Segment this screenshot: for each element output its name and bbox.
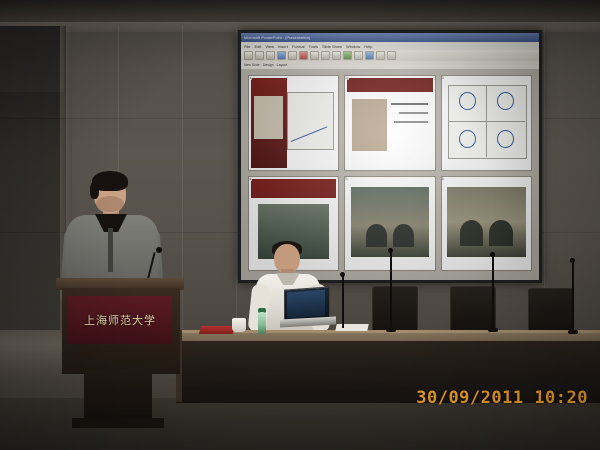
design-button[interactable]: Design <box>263 63 274 67</box>
menu-item-format[interactable]: Format <box>292 44 305 49</box>
camera-timestamp: 30/09/2011 10:20 <box>416 388 588 408</box>
slide-number: 3 <box>441 75 445 80</box>
slide-text-line <box>391 103 429 105</box>
print-icon[interactable] <box>277 51 286 60</box>
menu-item-edit[interactable]: Edit <box>254 44 261 49</box>
slide-photo-arch <box>460 220 484 247</box>
microphone-base <box>386 328 396 332</box>
podium-banner: 上海师范大学 <box>68 296 172 344</box>
laptop-screen-glow <box>287 290 325 319</box>
undo-icon[interactable] <box>343 51 352 60</box>
slide-thumbnail[interactable]: 6 <box>441 176 532 272</box>
microphone-head <box>570 258 575 263</box>
zoom-icon[interactable] <box>387 51 396 60</box>
preview-icon[interactable] <box>288 51 297 60</box>
app-menu-bar: File Edit View Insert Format Tools Slide… <box>241 42 539 50</box>
water-bottle <box>258 312 266 334</box>
app-title-bar: Microsoft PowerPoint - [Presentation] <box>241 33 539 42</box>
presenter-face-shadow <box>96 196 124 212</box>
app-title: Microsoft PowerPoint - [Presentation] <box>244 35 310 40</box>
slide-title-band <box>251 179 336 199</box>
slide-content <box>444 78 529 168</box>
slide-number: 1 <box>248 75 252 80</box>
presenter-hair-side <box>90 182 99 199</box>
microphone-base <box>568 330 578 334</box>
slide-content <box>251 78 336 168</box>
slide-number: 2 <box>344 75 348 80</box>
menu-item-slide-show[interactable]: Slide Show <box>322 44 342 49</box>
microphone-stem <box>492 256 494 330</box>
redo-icon[interactable] <box>354 51 363 60</box>
menu-item-tools[interactable]: Tools <box>309 44 318 49</box>
layout-button[interactable]: Layout <box>277 63 288 67</box>
slide-diagram-curve <box>497 130 514 148</box>
slide-thumbnail[interactable]: 1 <box>248 75 339 171</box>
podium-foot <box>72 418 164 428</box>
open-file-icon[interactable] <box>255 51 264 60</box>
app-toolbar <box>241 50 539 61</box>
slide-thumbnail[interactable]: 3 <box>441 75 532 171</box>
slide-photo <box>447 187 526 257</box>
new-file-icon[interactable] <box>244 51 253 60</box>
microphone-stem <box>342 276 344 328</box>
microphone-head <box>340 272 345 277</box>
microphone-base <box>488 328 498 332</box>
slide-photo-arch <box>489 220 513 247</box>
red-folder <box>199 326 236 334</box>
photograph: Microsoft PowerPoint - [Presentation] Fi… <box>0 0 600 450</box>
slide-number: 6 <box>441 176 445 181</box>
slide-chart <box>287 92 333 149</box>
microphone-stem <box>572 262 574 332</box>
microphone-stem <box>390 252 392 330</box>
slide-title-band <box>347 78 432 92</box>
slide-content <box>347 78 432 168</box>
slide-text-line <box>399 112 428 114</box>
microphone-head <box>490 252 495 257</box>
insert-table-icon[interactable] <box>376 51 385 60</box>
paste-icon[interactable] <box>332 51 341 60</box>
slide-diagram-axis <box>448 121 525 122</box>
insert-chart-icon[interactable] <box>365 51 374 60</box>
menu-item-help[interactable]: Help <box>364 44 372 49</box>
slide-content <box>444 179 529 269</box>
slide-photo <box>254 96 283 139</box>
wall-seam <box>236 26 237 334</box>
slide-number: 5 <box>344 176 348 181</box>
new-slide-button[interactable]: New Slide <box>244 63 260 67</box>
menu-item-insert[interactable]: Insert <box>278 44 288 49</box>
slide-text-line <box>394 121 428 123</box>
microphone-head <box>388 248 393 253</box>
wall-panel-highlight <box>0 26 64 92</box>
slide-photo <box>352 99 386 151</box>
slide-photo-arch <box>393 224 413 248</box>
menu-item-view[interactable]: View <box>265 44 274 49</box>
save-icon[interactable] <box>266 51 275 60</box>
slide-number: 4 <box>248 176 252 181</box>
slide-photo-arch <box>366 224 386 248</box>
slide-photo <box>351 187 430 257</box>
copy-icon[interactable] <box>321 51 330 60</box>
podium-microphone-head <box>156 247 162 253</box>
paper-stack <box>335 324 368 331</box>
spellcheck-icon[interactable] <box>299 51 308 60</box>
slide-thumbnail[interactable]: 2 <box>344 75 435 171</box>
app-secondary-toolbar: New Slide Design Layout <box>241 61 539 69</box>
menu-item-file[interactable]: File <box>244 44 250 49</box>
paper-cup <box>232 318 246 332</box>
menu-item-window[interactable]: Window <box>346 44 360 49</box>
cut-icon[interactable] <box>310 51 319 60</box>
chair <box>528 288 574 336</box>
podium-banner-text: 上海师范大学 <box>84 312 156 328</box>
presenter-placket <box>108 228 113 272</box>
slide-chart-line <box>291 127 328 143</box>
